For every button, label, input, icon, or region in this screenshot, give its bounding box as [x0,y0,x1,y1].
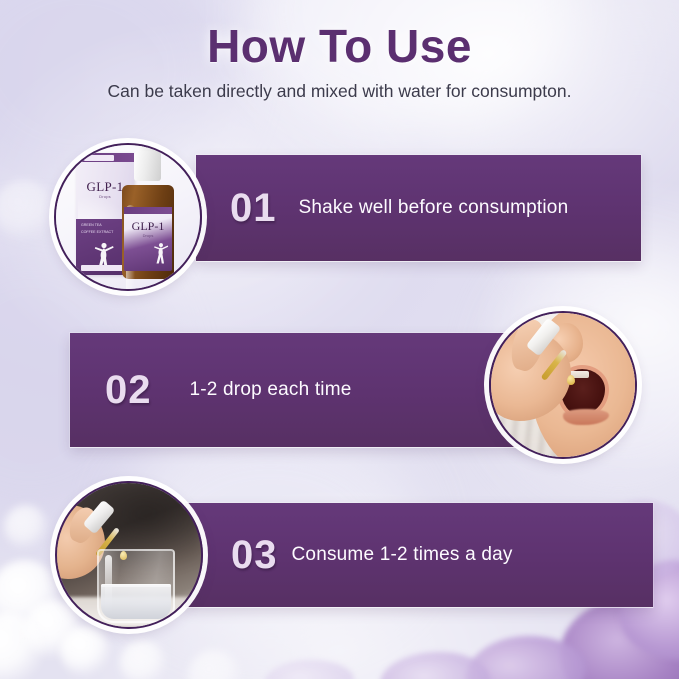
white-flower [120,640,166,679]
step-image-02 [489,311,637,459]
carton-footer-label [81,265,125,271]
step-bar-01: 01 Shake well before consumption [196,155,641,261]
step-bar-03: 03 Consume 1-2 times a day [185,503,653,607]
step-caption-03: Consume 1-2 times a day [292,544,513,566]
bottle-product-name: GLP-1 [124,219,172,234]
step-image-03 [55,481,203,629]
bottle-cap [134,151,161,181]
bottle-label: GLP-1 Drops [124,207,172,271]
bottle-label-lines [129,241,130,255]
carton-ingredient-1: GREEN TEA [81,222,113,229]
carton-brand-strip [84,155,114,161]
step-number-02: 02 [105,368,152,413]
dancer-figure-icon [152,241,170,269]
white-flower [60,626,110,676]
page-title: How To Use [0,22,679,70]
infographic-canvas: How To Use Can be taken directly and mix… [0,0,679,679]
dropper-bottle: GLP-1 Drops [122,167,174,279]
water [101,585,171,619]
water-glass [97,549,175,623]
liquid-drop [567,375,575,385]
step-caption-02: 1-2 drop each time [190,379,352,401]
white-flower [4,505,48,549]
step-image-01: GLP-1 Drops GREEN TEA COFFEE EXTRACT [54,143,202,291]
step-caption-01: Shake well before consumption [299,197,569,219]
carton-ingredient-2: COFFEE EXTRACT [81,229,113,236]
step-number-03: 03 [231,533,278,578]
carton-ingredients: GREEN TEA COFFEE EXTRACT [81,222,113,236]
bottle-product-form: Drops [124,233,172,238]
step-number-01: 01 [230,186,277,231]
page-subtitle: Can be taken directly and mixed with wat… [90,80,589,103]
